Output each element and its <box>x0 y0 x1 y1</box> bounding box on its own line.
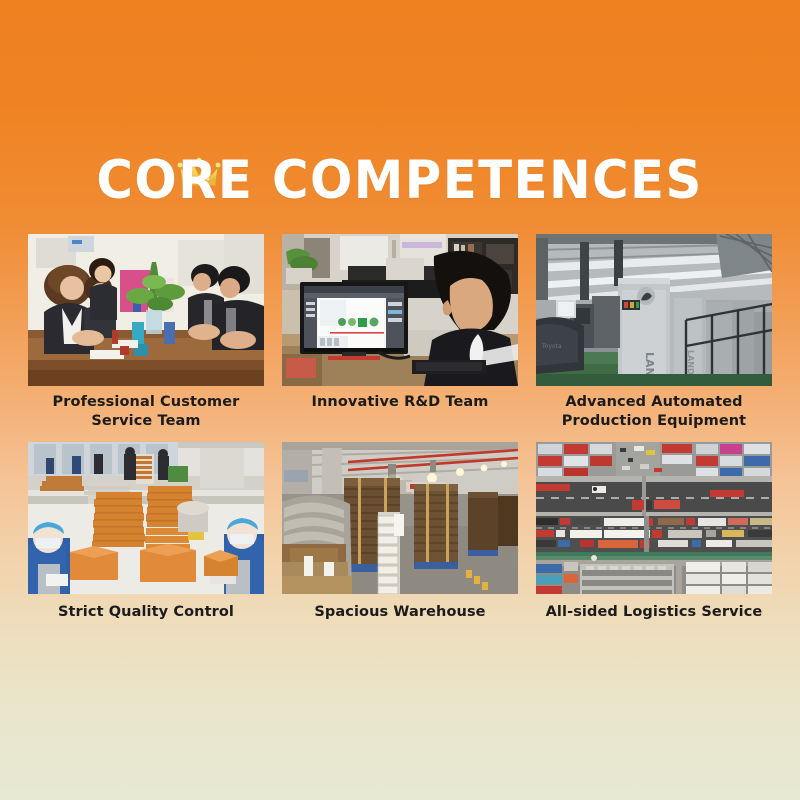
card-caption: Advanced Automated Production Equipment <box>536 393 772 431</box>
card-all-sided-logistics-service[interactable]: All-sided Logistics Service <box>536 442 772 622</box>
printing-press-photo[interactable]: LAND 800 LAND 800 Toyota <box>536 234 772 386</box>
card-innovative-rd-team[interactable]: Innovative R&D Team <box>282 234 518 431</box>
card-professional-customer-service-team[interactable]: Professional Customer Service Team <box>28 234 264 431</box>
card-caption: All-sided Logistics Service <box>536 603 772 622</box>
card-caption: Innovative R&D Team <box>282 393 518 412</box>
competences-grid: Professional Customer Service Team <box>28 234 772 622</box>
meeting-room-photo[interactable] <box>28 234 264 386</box>
title-block: CORE COMPETENCES <box>0 150 800 212</box>
warehouse-photo[interactable] <box>282 442 518 594</box>
card-advanced-automated-production-equipment[interactable]: LAND 800 LAND 800 Toyota <box>536 234 772 431</box>
designer-workstation-photo[interactable] <box>282 234 518 386</box>
logistics-aerial-photo[interactable] <box>536 442 772 594</box>
card-spacious-warehouse[interactable]: Spacious Warehouse <box>282 442 518 622</box>
card-caption: Strict Quality Control <box>28 603 264 622</box>
card-caption: Spacious Warehouse <box>282 603 518 622</box>
page-title: CORE COMPETENCES <box>97 150 703 212</box>
card-strict-quality-control[interactable]: Strict Quality Control <box>28 442 264 622</box>
svg-text:Toyota: Toyota <box>541 343 562 350</box>
core-competences-poster: CORE COMPETENCES <box>0 0 800 800</box>
card-caption: Professional Customer Service Team <box>28 393 264 431</box>
quality-control-photo[interactable] <box>28 442 264 594</box>
